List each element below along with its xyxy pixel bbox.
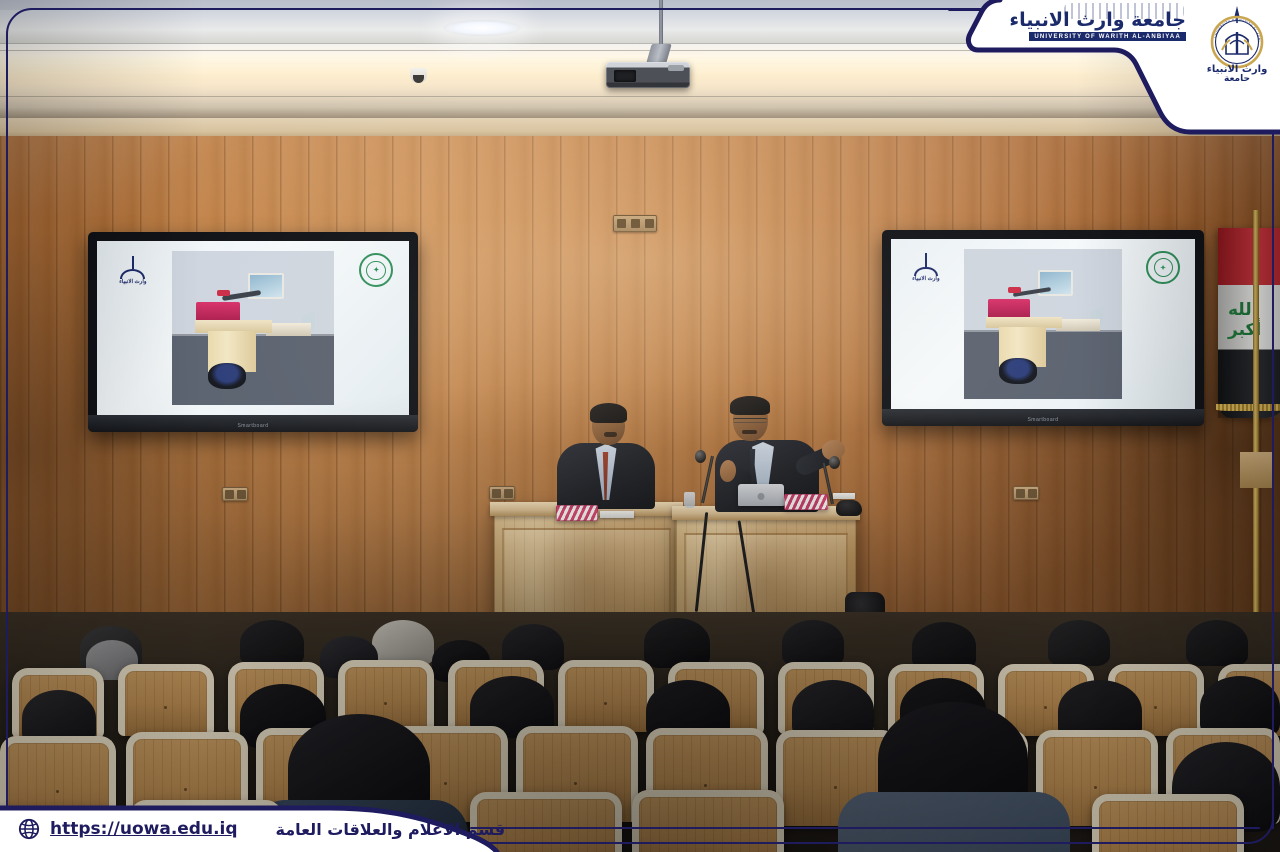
speaker-left-hair <box>590 403 627 423</box>
display-right-screen: وارث الانبياء ✦ <box>891 239 1195 409</box>
wall-outlet <box>1013 486 1039 500</box>
display-brand-label: Smartboard <box>1027 417 1058 423</box>
papers <box>600 511 634 518</box>
globe-icon <box>18 818 40 840</box>
camera-on-desk <box>836 500 862 516</box>
flag-fringe <box>1216 404 1280 411</box>
ceiling-seam <box>0 50 1280 51</box>
footer-accent-line-cap <box>1272 811 1275 829</box>
slide-green-seal-icon: ✦ <box>1146 251 1179 284</box>
display-right: وارث الانبياء ✦ Smartboard <box>882 230 1204 426</box>
speaker-right-hair <box>730 396 770 415</box>
slide-crest-icon: وارث الانبياء <box>113 251 154 289</box>
department-label: قسم الاعلام والعلاقات العامة <box>276 820 506 839</box>
wall-outlet <box>489 486 515 500</box>
svg-text:جامعة: جامعة <box>1224 74 1250 82</box>
audience-head <box>912 622 976 670</box>
flag-pole <box>1253 210 1259 628</box>
event-photograph: وارث الانبياء ✦ Smartboard <box>0 0 1280 852</box>
auditorium-seat <box>1092 794 1244 852</box>
footer-accent-line <box>470 827 1260 830</box>
water-glass <box>684 492 695 508</box>
display-right-bezel: Smartboard <box>882 409 1204 426</box>
slide-photo <box>964 249 1122 399</box>
audience-head <box>240 620 304 666</box>
wall-outlet <box>613 215 657 232</box>
auditorium-seat <box>118 664 214 736</box>
laptop <box>738 484 784 506</box>
footer-content: https://uowa.edu.iq قسم الاعلام والعلاقا… <box>18 812 505 846</box>
audience-shoulders <box>838 792 1070 852</box>
display-left-screen: وارث الانبياء ✦ <box>97 241 409 415</box>
recessed-downlight-icon <box>443 20 521 36</box>
audience-head <box>644 618 710 668</box>
auditorium-seat <box>558 660 654 732</box>
speaker-left-beard <box>604 432 617 437</box>
ceiling-projector-icon <box>606 62 690 88</box>
slide-crest-icon: وارث الانبياء <box>906 249 946 286</box>
microphone-head <box>829 456 840 469</box>
microphone-head <box>695 450 706 463</box>
wordmark-ornament <box>1064 3 1184 19</box>
wall-outlet <box>222 487 248 501</box>
flag-stand-box <box>1240 452 1274 488</box>
speaker-right-moustache <box>742 430 757 434</box>
university-wordmark: جامعة وارث الانبياء UNIVERSITY OF WARITH… <box>1036 4 1186 48</box>
wordmark-english: UNIVERSITY OF WARITH AL-ANBIYAA <box>1029 32 1186 41</box>
tissue-box <box>556 505 598 521</box>
screenshot-root: وارث الانبياء ✦ Smartboard <box>0 0 1280 852</box>
ceiling-seam <box>0 96 1280 97</box>
display-brand-label: Smartboard <box>237 423 268 429</box>
website-url-link[interactable]: https://uowa.edu.iq <box>50 819 238 839</box>
auditorium-seat <box>632 790 784 852</box>
slide-photo <box>172 251 334 404</box>
slide-green-seal-icon: ✦ <box>359 253 393 287</box>
audience-head <box>1048 620 1110 666</box>
eyeglasses-icon <box>733 418 767 423</box>
audience-head <box>782 620 844 666</box>
display-left-bezel: Smartboard <box>88 415 418 432</box>
papers <box>833 493 855 499</box>
dome-camera-icon <box>410 68 427 83</box>
university-seal-icon: UNIVERSITY OF WARITH AL-ANBIYAA وارث الا… <box>1206 4 1268 82</box>
tissue-box <box>784 494 828 510</box>
display-left: وارث الانبياء ✦ Smartboard <box>88 232 418 432</box>
audience-head <box>1186 620 1248 666</box>
